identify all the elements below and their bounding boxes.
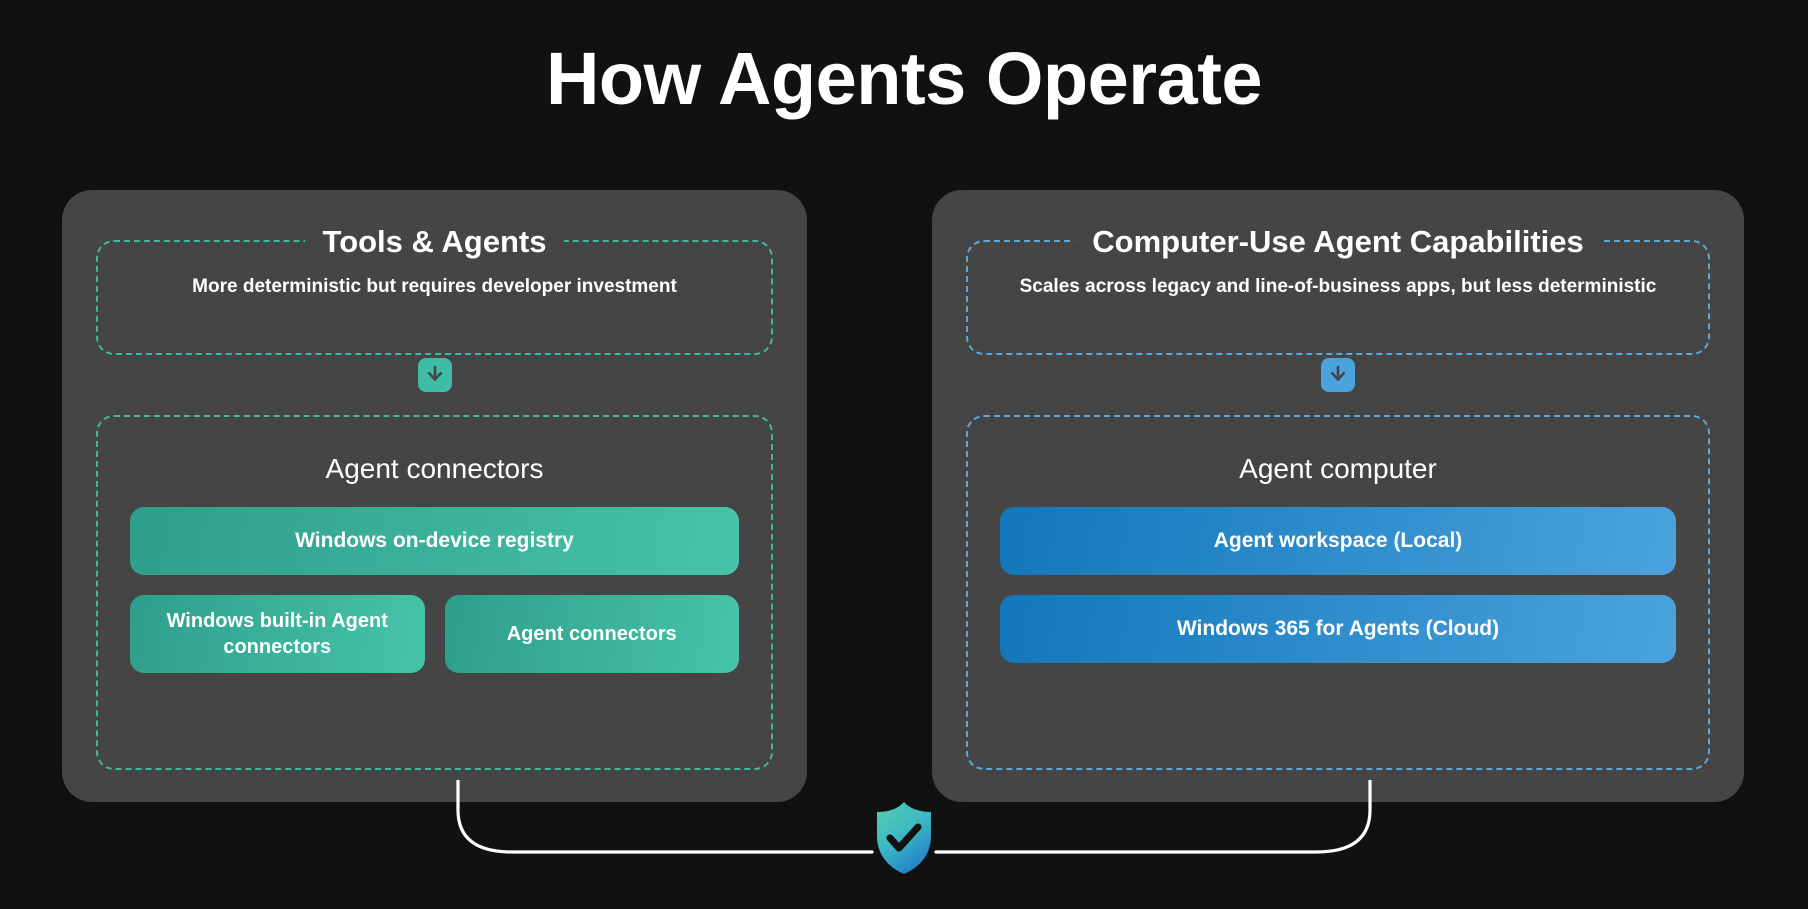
- panel-computer-use-agent-capabilities: Computer-Use Agent Capabilities Scales a…: [932, 190, 1744, 802]
- group-heading-agent-connectors: Agent connectors: [98, 455, 771, 483]
- panel-tools-and-agents: Tools & Agents More deterministic but re…: [62, 190, 807, 802]
- group-description-computer-use-agent-capabilities: Scales across legacy and line-of-busines…: [968, 274, 1708, 300]
- group-legend-computer-use-agent-capabilities: Computer-Use Agent Capabilities: [1074, 220, 1601, 264]
- group-tools-and-agents-summary: Tools & Agents More deterministic but re…: [96, 240, 773, 355]
- chip-agent-connectors[interactable]: Agent connectors: [445, 595, 740, 673]
- group-heading-agent-computer: Agent computer: [968, 455, 1708, 483]
- chip-windows-built-in-agent-connectors[interactable]: Windows built-in Agent connectors: [130, 595, 425, 673]
- group-legend-tools-and-agents: Tools & Agents: [305, 220, 565, 264]
- group-description-tools-and-agents: More deterministic but requires develope…: [98, 274, 771, 300]
- chip-agent-workspace-local[interactable]: Agent workspace (Local): [1000, 507, 1676, 575]
- chip-stack-agent-connectors: Windows on-device registry Windows built…: [130, 507, 739, 673]
- group-agent-computer: Agent computer Agent workspace (Local) W…: [966, 415, 1710, 770]
- group-computer-use-summary: Computer-Use Agent Capabilities Scales a…: [966, 240, 1710, 355]
- slide-canvas: How Agents Operate Tools & Agents More d…: [0, 0, 1808, 909]
- shield-check-icon: [870, 800, 938, 876]
- chip-windows-365-for-agents-cloud[interactable]: Windows 365 for Agents (Cloud): [1000, 595, 1676, 663]
- chip-row-agent-connectors: Windows built-in Agent connectors Agent …: [130, 595, 739, 673]
- group-agent-connectors: Agent connectors Windows on-device regis…: [96, 415, 773, 770]
- arrow-down-icon: [418, 358, 452, 392]
- arrow-down-icon: [1321, 358, 1355, 392]
- chip-stack-agent-computer: Agent workspace (Local) Windows 365 for …: [1000, 507, 1676, 663]
- page-title: How Agents Operate: [0, 42, 1808, 116]
- chip-windows-on-device-registry[interactable]: Windows on-device registry: [130, 507, 739, 575]
